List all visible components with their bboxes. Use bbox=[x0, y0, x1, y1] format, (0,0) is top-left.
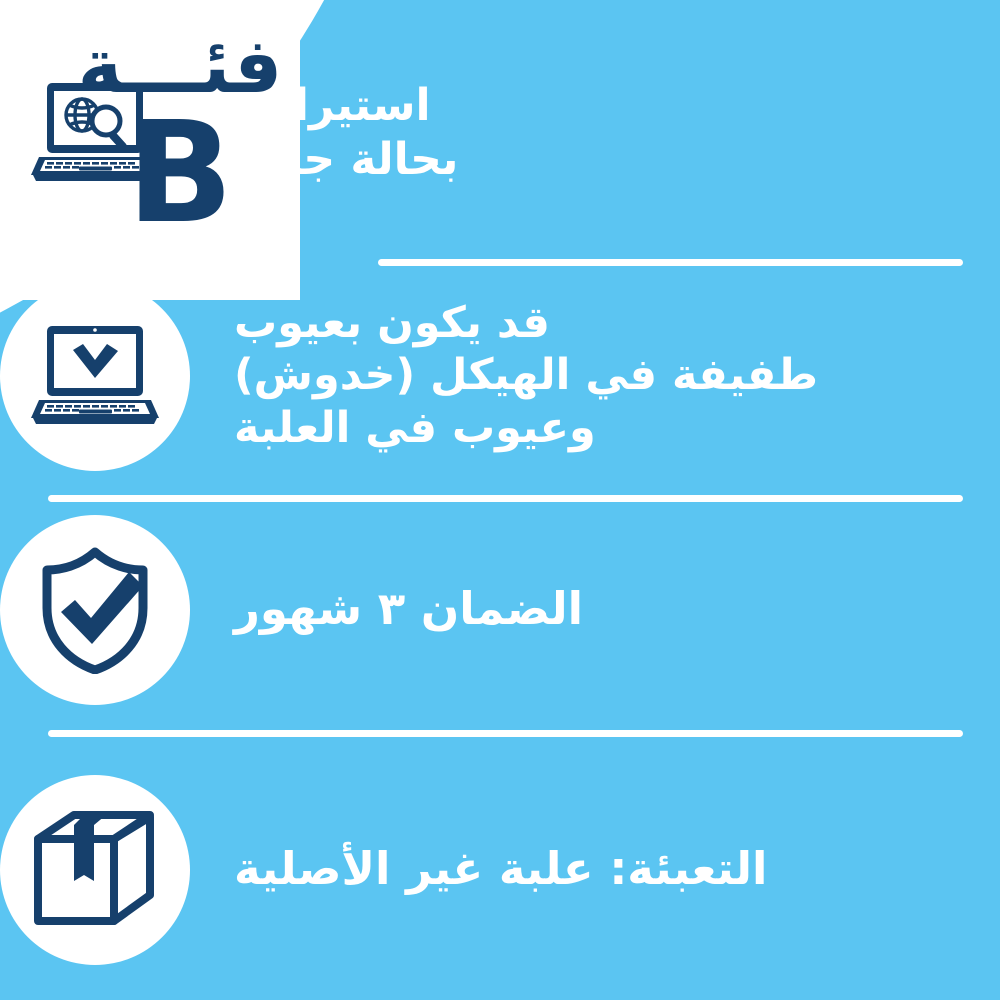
laptop-check-icon bbox=[29, 320, 161, 432]
category-badge: فئـــة B bbox=[30, 26, 330, 239]
infographic-canvas: فئـــة B استيراد – بحالة جيدة bbox=[0, 0, 1000, 1000]
row-minor-defects: قد يكون بعيوب طفيفة في الهيكل (خدوش) وعي… bbox=[0, 278, 1000, 473]
row-warranty: الضمان ٣ شهور bbox=[0, 512, 1000, 707]
row-packaging-label: التعبئة: علبة غير الأصلية bbox=[208, 842, 1000, 897]
shield-check-icon bbox=[33, 546, 157, 674]
icon-bubble-4 bbox=[0, 775, 190, 965]
icon-bubble-2 bbox=[0, 281, 190, 471]
package-box-icon bbox=[32, 809, 158, 931]
row-packaging: التعبئة: علبة غير الأصلية bbox=[0, 772, 1000, 967]
category-badge-letter: B bbox=[30, 110, 330, 239]
divider-2 bbox=[48, 495, 963, 502]
row-warranty-label: الضمان ٣ شهور bbox=[208, 582, 1000, 637]
icon-bubble-3 bbox=[0, 515, 190, 705]
divider-3 bbox=[48, 730, 963, 737]
divider-1 bbox=[378, 259, 963, 266]
row-minor-defects-label: قد يكون بعيوب طفيفة في الهيكل (خدوش) وعي… bbox=[208, 297, 1000, 454]
